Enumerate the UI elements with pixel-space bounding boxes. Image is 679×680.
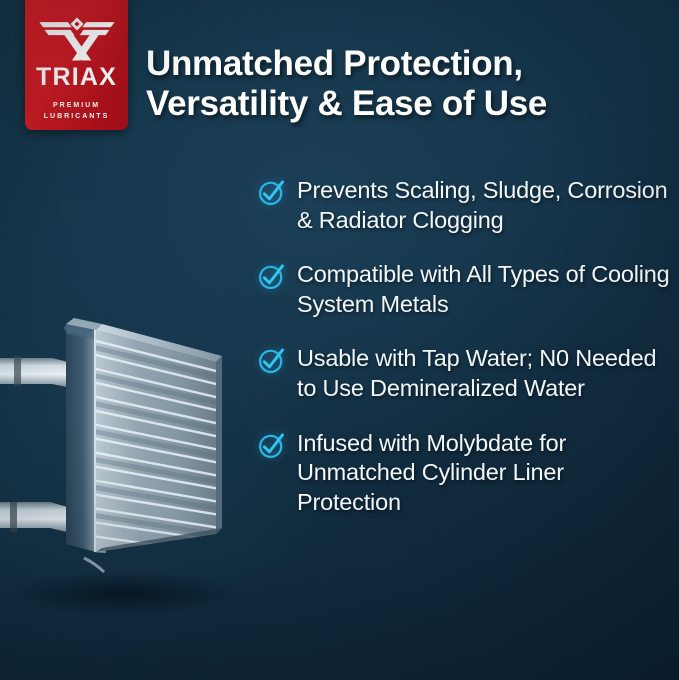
feature-list: Prevents Scaling, Sludge, Corrosion & Ra… bbox=[258, 176, 674, 517]
triax-logo: TRIAX PREMIUM LUBRICANTS bbox=[25, 0, 128, 130]
list-item: Prevents Scaling, Sludge, Corrosion & Ra… bbox=[258, 176, 674, 235]
brand-tagline: PREMIUM LUBRICANTS bbox=[44, 101, 110, 123]
headline-line-1: Unmatched Protection, bbox=[146, 44, 676, 84]
list-item-label: Infused with Molybdate for Unmatched Cyl… bbox=[297, 429, 674, 518]
headline-line-2: Versatility & Ease of Use bbox=[146, 84, 676, 124]
list-item-label: Usable with Tap Water; N0 Needed to Use … bbox=[297, 344, 674, 403]
list-item: Usable with Tap Water; N0 Needed to Use … bbox=[258, 344, 674, 403]
infographic-poster: TRIAX PREMIUM LUBRICANTS Unmatched Prote… bbox=[0, 0, 679, 680]
list-item-label: Prevents Scaling, Sludge, Corrosion & Ra… bbox=[297, 176, 674, 235]
radiator-illustration bbox=[0, 296, 256, 608]
brand-name: TRIAX bbox=[36, 63, 117, 92]
list-item: Infused with Molybdate for Unmatched Cyl… bbox=[258, 429, 674, 518]
check-circle-icon bbox=[258, 179, 285, 206]
check-circle-icon bbox=[258, 347, 285, 374]
list-item-label: Compatible with All Types of Cooling Sys… bbox=[297, 260, 674, 319]
winged-x-emblem-icon bbox=[38, 16, 116, 62]
check-circle-icon bbox=[258, 432, 285, 459]
brand-tagline-line1: PREMIUM bbox=[44, 101, 110, 112]
check-circle-icon bbox=[258, 263, 285, 290]
brand-tagline-line2: LUBRICANTS bbox=[44, 112, 110, 123]
list-item: Compatible with All Types of Cooling Sys… bbox=[258, 260, 674, 319]
page-title: Unmatched Protection, Versatility & Ease… bbox=[146, 44, 676, 124]
